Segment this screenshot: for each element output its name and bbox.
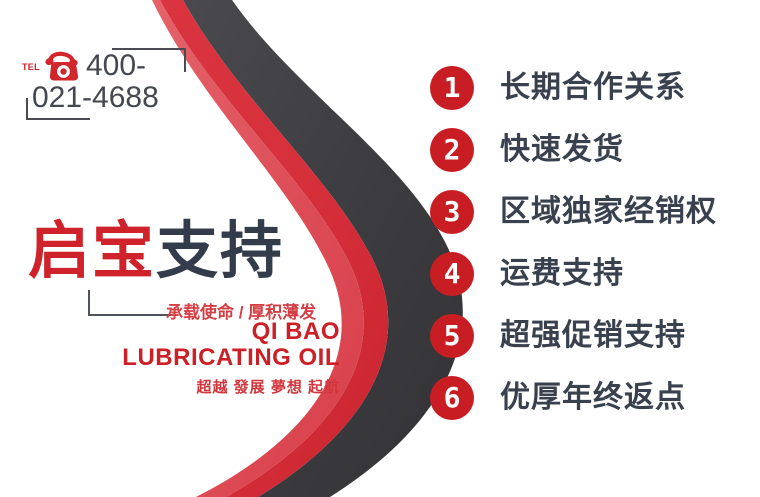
brand-english-line-2: LUBRICATING OIL: [28, 344, 340, 372]
benefit-label-1: 长期合作关系: [500, 68, 686, 108]
brand-slogan-secondary: 超越 發展 夢想 起航: [28, 376, 340, 397]
benefit-item-3: 3 区域独家经销权: [430, 190, 750, 252]
benefit-item-5: 5 超强促销支持: [430, 314, 750, 376]
benefit-number-badge-4: 4: [430, 252, 474, 296]
benefit-number-badge-2: 2: [430, 128, 474, 172]
phone-number-line-1: 400-: [86, 50, 146, 82]
benefit-item-1: 1 长期合作关系: [430, 66, 750, 128]
contact-block: TEL 400- 021-4688: [22, 42, 192, 122]
brand-title-dark: 支持: [156, 217, 284, 286]
benefit-label-4: 运费支持: [500, 254, 624, 294]
brand-title: 启宝支持: [28, 218, 358, 286]
benefit-item-4: 4 运费支持: [430, 252, 750, 314]
benefits-list: 1 长期合作关系 2 快速发货 3 区域独家经销权 4 运费支持 5 超强促销支…: [430, 66, 750, 438]
benefit-number-badge-3: 3: [430, 190, 474, 234]
benefit-item-6: 6 优厚年终返点: [430, 376, 750, 438]
benefit-label-5: 超强促销支持: [500, 316, 686, 356]
tel-label: TEL: [22, 62, 40, 72]
benefit-item-2: 2 快速发货: [430, 128, 750, 190]
brand-bracket: [88, 290, 172, 316]
benefit-label-3: 区域独家经销权: [500, 192, 717, 232]
brand-english-line-1: QI BAO: [28, 318, 340, 346]
benefit-number-badge-5: 5: [430, 314, 474, 358]
benefit-number-badge-6: 6: [430, 376, 474, 420]
benefit-label-6: 优厚年终返点: [500, 378, 686, 418]
phone-number-line-2: 021-4688: [32, 82, 159, 114]
benefit-label-2: 快速发货: [500, 130, 624, 170]
brand-block: 启宝支持 承载使命 / 厚积薄发 QI BAO LUBRICATING OIL …: [28, 218, 358, 286]
promo-banner: TEL 400- 021-4688 启宝支持 承载使命 / 厚积薄发 QI BA…: [0, 0, 760, 497]
benefit-number-badge-1: 1: [430, 66, 474, 110]
brand-title-red: 启宝: [28, 217, 156, 286]
